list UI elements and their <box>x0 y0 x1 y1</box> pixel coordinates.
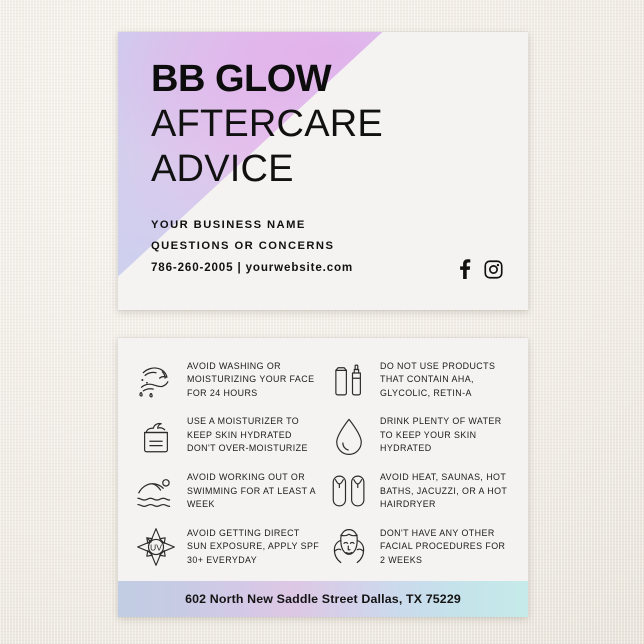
tip-item: AVOID WORKING OUT OR SWIMMING FOR AT LEA… <box>133 464 320 520</box>
swimmer-icon <box>133 468 179 514</box>
moisturizer-jar-icon <box>133 413 179 459</box>
cream-tube-bottle-icon <box>326 357 372 403</box>
tip-text: DO NOT USE PRODUCTS THAT CONTAIN AHA, GL… <box>380 360 513 401</box>
tip-text: AVOID HEAT, SAUNAS, HOT BATHS, JACUZZI, … <box>380 471 513 512</box>
tip-item: AVOID HEAT, SAUNAS, HOT BATHS, JACUZZI, … <box>326 464 513 520</box>
flip-flops-icon <box>326 468 372 514</box>
headline-line-two: ADVICE <box>151 147 294 191</box>
front-card-content: BB GLOW AFTERCARE ADVICE YOUR BUSINESS N… <box>118 32 528 310</box>
tip-text: AVOID GETTING DIRECT SUN EXPOSURE, APPLY… <box>187 527 320 568</box>
tip-item: UV AVOID GETTING DIRECT SUN EXPOSURE, AP… <box>133 519 320 575</box>
water-drop-icon <box>326 413 372 459</box>
instagram-icon[interactable] <box>484 260 503 279</box>
front-business-card: BB GLOW AFTERCARE ADVICE YOUR BUSINESS N… <box>118 32 528 310</box>
tip-item: DO NOT USE PRODUCTS THAT CONTAIN AHA, GL… <box>326 352 513 408</box>
tip-text: DRINK PLENTY OF WATER TO KEEP YOUR SKIN … <box>380 415 513 456</box>
tip-item: USE A MOISTURIZER TO KEEP SKIN HYDRATED … <box>133 408 320 464</box>
tip-item: DRINK PLENTY OF WATER TO KEEP YOUR SKIN … <box>326 408 513 464</box>
phone-website-text[interactable]: 786-260-2005 | yourwebsite.com <box>151 262 353 274</box>
social-icons-group <box>458 259 503 279</box>
svg-text:UV: UV <box>150 542 162 552</box>
tip-item: AVOID WASHING OR MOISTURIZING YOUR FACE … <box>133 352 320 408</box>
contact-block: YOUR BUSINESS NAME QUESTIONS OR CONCERNS… <box>151 220 353 274</box>
aftercare-tips-grid: AVOID WASHING OR MOISTURIZING YOUR FACE … <box>118 338 528 581</box>
address-text: 602 North New Saddle Street Dallas, TX 7… <box>185 592 461 606</box>
back-business-card: AVOID WASHING OR MOISTURIZING YOUR FACE … <box>118 338 528 617</box>
tip-text: AVOID WORKING OUT OR SWIMMING FOR AT LEA… <box>187 471 320 512</box>
brand-title: BB GLOW <box>151 60 331 98</box>
tip-item: DON'T HAVE ANY OTHER FACIAL PROCEDURES F… <box>326 519 513 575</box>
facebook-icon[interactable] <box>458 259 471 279</box>
headline-line-one: AFTERCARE <box>151 102 383 146</box>
questions-concerns-text: QUESTIONS OR CONCERNS <box>151 241 353 252</box>
facial-treatment-icon <box>326 524 372 570</box>
tip-text: AVOID WASHING OR MOISTURIZING YOUR FACE … <box>187 360 320 401</box>
address-footer-bar: 602 North New Saddle Street Dallas, TX 7… <box>118 581 528 617</box>
face-washing-icon <box>133 357 179 403</box>
uv-sun-icon: UV <box>133 524 179 570</box>
business-name-text: YOUR BUSINESS NAME <box>151 220 353 231</box>
tip-text: DON'T HAVE ANY OTHER FACIAL PROCEDURES F… <box>380 527 513 568</box>
tip-text: USE A MOISTURIZER TO KEEP SKIN HYDRATED … <box>187 415 320 456</box>
